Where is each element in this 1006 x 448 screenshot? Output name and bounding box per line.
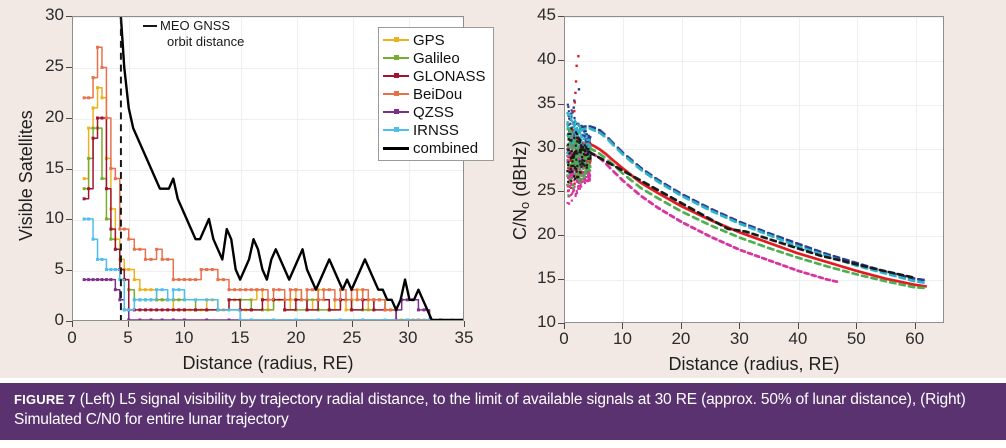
legend-label: GLONASS [413,69,486,84]
plots-band: 05101520253005101520253035 Distance (rad… [0,0,1006,381]
right-x-tick-label: 30 [719,329,759,349]
left-x-tickmark [352,321,353,327]
right-plot-area [564,16,944,323]
left-legend-item-glonass: GLONASS [383,67,486,85]
right-series-canvas [565,17,943,322]
left-x-tick-label: 0 [52,328,92,348]
legend-label: IRNSS [413,123,459,138]
legend-line-swatch [383,88,409,100]
left-x-tick-label: 25 [332,328,372,348]
left-y-tickmark [66,169,72,170]
left-x-tick-label: 10 [164,328,204,348]
left-legend-item-combined: combined [383,139,486,157]
left-x-axis-title: Distance (radius, RE) [72,353,464,374]
legend-line-swatch [383,52,409,64]
left-y-axis-title: Visible Satellites [16,110,37,241]
right-y-tickmark [558,60,564,61]
legend-line-swatch [383,70,409,82]
right-y-title-sub: o [517,201,532,208]
legend-line-swatch [383,34,409,46]
legend-label: QZSS [413,105,454,120]
right-x-tick-label: 60 [895,329,935,349]
left-x-tickmark [296,321,297,327]
legend-label: BeiDou [413,87,462,102]
right-x-tick-label: 40 [778,329,818,349]
left-x-tickmark [464,321,465,327]
meo-dash-icon [143,25,157,27]
left-x-tickmark [72,321,73,327]
left-legend-item-gps: GPS [383,31,486,49]
right-x-tick-label: 50 [836,329,876,349]
right-y-tick-label: 15 [512,268,556,288]
right-y-axis-title: C/No (dBHz) [510,140,532,239]
left-y-tick-label: 5 [20,259,64,279]
left-legend-item-irnss: IRNSS [383,121,486,139]
right-x-tick-label: 20 [661,329,701,349]
meo-gnss-annotation: MEO GNSS orbit distance [143,18,244,51]
legend-line-swatch [383,142,409,154]
right-y-tickmark [558,191,564,192]
right-y-tickmark [558,148,564,149]
left-x-tickmark [240,321,241,327]
left-y-tickmark [66,219,72,220]
left-y-tick-label: 30 [20,5,64,25]
figure-caption-label: FIGURE 7 [14,392,76,407]
left-x-tickmark [408,321,409,327]
figure-caption-body: (Left) L5 signal visibility by trajector… [14,391,966,428]
left-chart-panel: 05101520253005101520253035 Distance (rad… [0,0,492,381]
left-legend: GPSGalileoGLONASSBeiDouQZSSIRNSScombined [378,27,494,161]
right-x-axis-title: Distance (radius, RE) [564,354,944,375]
left-x-tickmark [184,321,185,327]
meo-annotation-line2: orbit distance [160,34,244,50]
legend-line-swatch [383,124,409,136]
right-y-tickmark [558,104,564,105]
right-y-tick-label: 35 [512,93,556,113]
figure-caption-bar: FIGURE 7 (Left) L5 signal visibility by … [0,383,1006,440]
right-y-tick-label: 45 [512,5,556,25]
right-y-title-pre: C/N [510,209,530,240]
left-x-tick-label: 20 [276,328,316,348]
caption-bottom-spacer [0,440,1006,448]
right-x-tick-label: 0 [544,329,584,349]
left-y-tickmark [66,118,72,119]
right-x-tick-label: 10 [602,329,642,349]
right-series-galileo [566,112,925,284]
legend-line-swatch [383,106,409,118]
meo-annotation-text: MEO GNSS orbit distance [160,18,244,51]
left-x-tick-label: 35 [444,328,484,348]
left-legend-item-qzss: QZSS [383,103,486,121]
right-y-title-post: (dBHz) [510,140,530,201]
legend-label: GPS [413,33,445,48]
left-legend-item-galileo: Galileo [383,49,486,67]
left-y-tickmark [66,67,72,68]
right-y-tickmark [558,235,564,236]
left-y-tickmark [66,16,72,17]
left-x-tick-label: 30 [388,328,428,348]
figure-caption: FIGURE 7 (Left) L5 signal visibility by … [14,390,992,431]
right-y-tickmark [558,279,564,280]
left-y-tick-label: 25 [20,56,64,76]
meo-annotation-line1: MEO GNSS [160,18,230,33]
left-legend-item-beidou: BeiDou [383,85,486,103]
legend-label: combined [413,141,478,156]
right-y-tick-label: 40 [512,49,556,69]
legend-label: Galileo [413,51,460,66]
figure-7: 05101520253005101520253035 Distance (rad… [0,0,1006,448]
left-y-tickmark [66,270,72,271]
left-y-tick-label: 0 [20,310,64,330]
right-chart-panel: 10152025303540450102030405060 Distance (… [492,0,1006,381]
left-x-tickmark [128,321,129,327]
left-x-tick-label: 5 [108,328,148,348]
right-y-tickmark [558,16,564,17]
left-x-tick-label: 15 [220,328,260,348]
